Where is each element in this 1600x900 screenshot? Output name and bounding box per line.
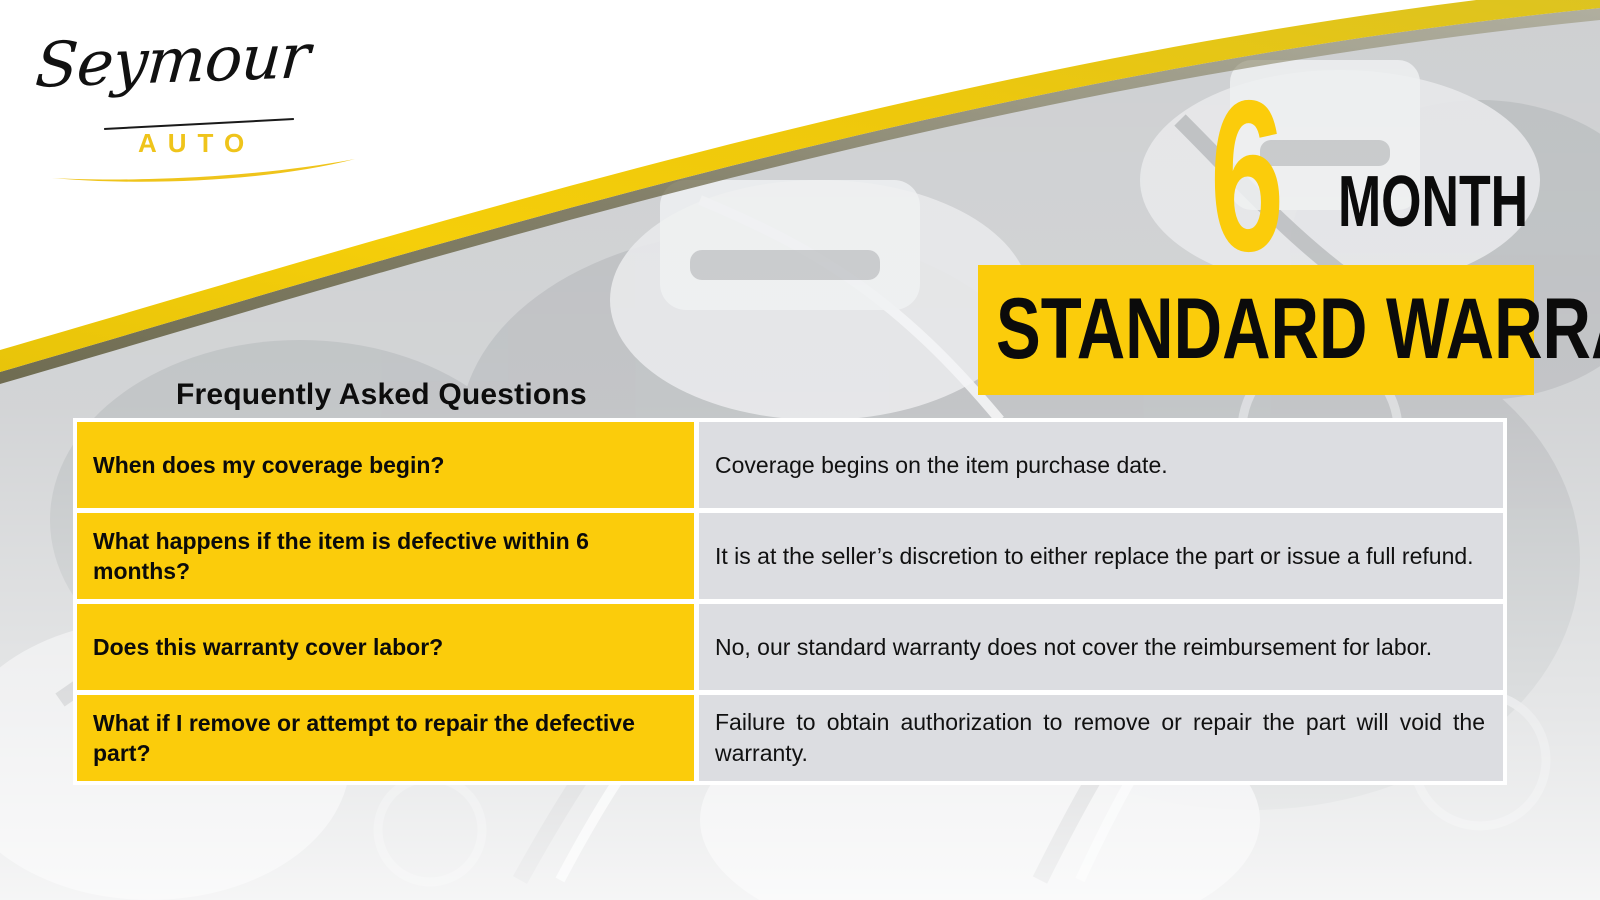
faq-answer-cell: Coverage begins on the item purchase dat… [699, 422, 1503, 508]
faq-question-text: Does this warranty cover labor? [93, 632, 443, 662]
warranty-title-banner: STANDARD WARRANTY [978, 265, 1534, 395]
faq-answer-cell: No, our standard warranty does not cover… [699, 604, 1503, 690]
faq-answer-cell: Failure to obtain authorization to remov… [699, 695, 1503, 781]
faq-question-text: When does my coverage begin? [93, 450, 444, 480]
logo-swoosh-icon [50, 152, 360, 184]
faq-answer-cell: It is at the seller’s discretion to eith… [699, 513, 1503, 599]
faq-question-text: What happens if the item is defective wi… [93, 526, 678, 587]
duration-number: 6 [1210, 68, 1282, 283]
faq-heading: Frequently Asked Questions [176, 378, 587, 412]
faq-answer-text: It is at the seller’s discretion to eith… [715, 541, 1485, 572]
table-row: What happens if the item is defective wi… [77, 513, 1503, 599]
faq-question-cell: What if I remove or attempt to repair th… [77, 695, 694, 781]
faq-answer-text: Failure to obtain authorization to remov… [715, 707, 1485, 768]
table-row: Does this warranty cover labor? No, our … [77, 604, 1503, 690]
logo-wordmark: Seymour [33, 19, 312, 101]
faq-question-cell: What happens if the item is defective wi… [77, 513, 694, 599]
warranty-slide: Seymour AUTO 6 MONTH STANDARD WARRANTY F… [0, 0, 1600, 900]
faq-table: When does my coverage begin? Coverage be… [73, 418, 1507, 785]
faq-question-text: What if I remove or attempt to repair th… [93, 708, 678, 769]
brand-logo: Seymour AUTO [30, 22, 330, 172]
faq-question-cell: When does my coverage begin? [77, 422, 694, 508]
faq-answer-text: Coverage begins on the item purchase dat… [715, 450, 1485, 481]
warranty-title-text: STANDARD WARRANTY [996, 283, 1600, 375]
faq-answer-text: No, our standard warranty does not cover… [715, 632, 1485, 663]
table-row: When does my coverage begin? Coverage be… [77, 422, 1503, 508]
table-row: What if I remove or attempt to repair th… [77, 695, 1503, 781]
faq-question-cell: Does this warranty cover labor? [77, 604, 694, 690]
duration-unit: MONTH [1338, 166, 1528, 238]
duration-block: 6 MONTH [1210, 78, 1540, 258]
